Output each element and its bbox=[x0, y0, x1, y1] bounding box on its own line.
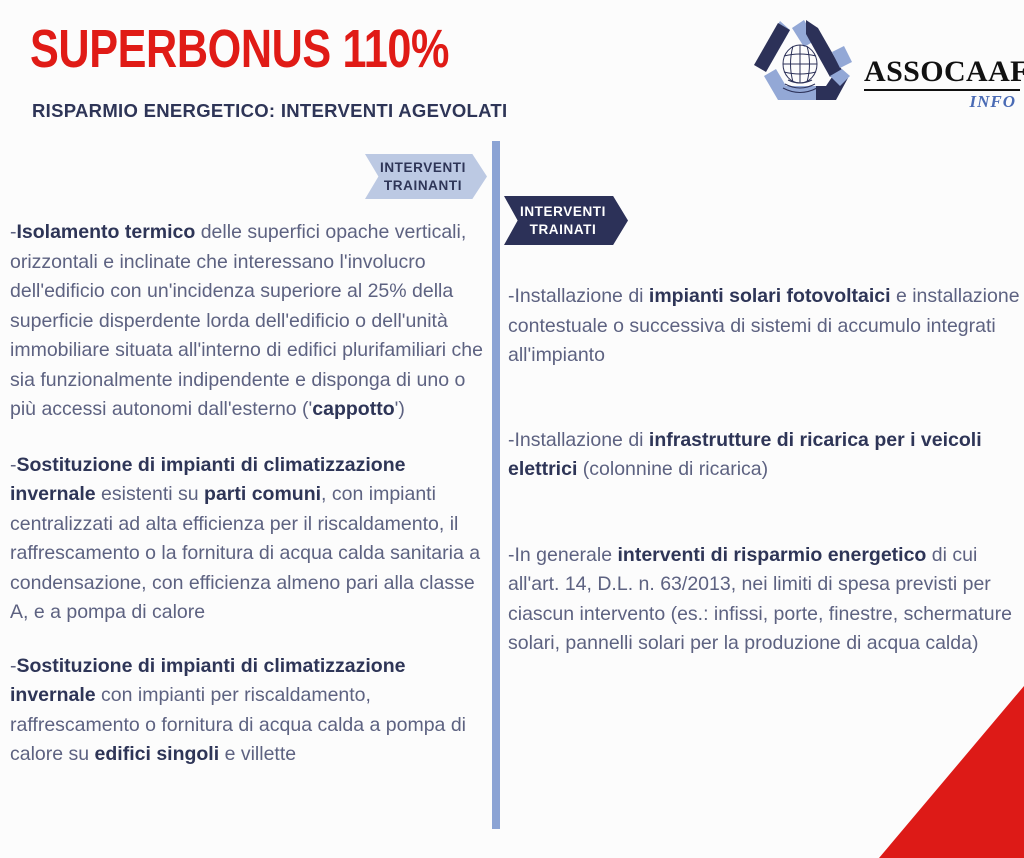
recycle-triangle-icon bbox=[752, 16, 862, 116]
banner-trainati-line2: TRAINATI bbox=[530, 221, 597, 239]
banner-interventi-trainati: INTERVENTI TRAINATI bbox=[504, 196, 628, 245]
column-divider bbox=[492, 141, 500, 829]
logo-rule bbox=[864, 89, 1020, 91]
banner-trainanti-line2: TRAINANTI bbox=[384, 177, 462, 195]
slide-canvas: SUPERBONUS 110% RISPARMIO ENERGETICO: IN… bbox=[0, 0, 1024, 858]
paragraph-infrastrutture-ricarica: -Installazione di infrastrutture di rica… bbox=[508, 426, 1020, 485]
paragraph-sostituzione-parti-comuni: -Sostituzione di impianti di climatizzaz… bbox=[10, 451, 492, 628]
right-column: -Installazione di impianti solari fotovo… bbox=[508, 282, 1020, 659]
page-subtitle: RISPARMIO ENERGETICO: INTERVENTI AGEVOLA… bbox=[32, 100, 507, 122]
banner-trainanti-line1: INTERVENTI bbox=[380, 159, 466, 177]
page-title: SUPERBONUS 110% bbox=[30, 20, 449, 78]
logo-name: ASSOCAAF bbox=[864, 56, 1020, 88]
left-column: -Isolamento termico delle superfici opac… bbox=[10, 218, 492, 794]
banner-trainati-line1: INTERVENTI bbox=[520, 203, 606, 221]
paragraph-sostituzione-edifici-singoli: -Sostituzione di impianti di climatizzaz… bbox=[10, 652, 492, 770]
logo-subtitle: INFO bbox=[864, 92, 1020, 112]
red-corner-decoration bbox=[879, 686, 1024, 858]
paragraph-risparmio-energetico-generale: -In generale interventi di risparmio ene… bbox=[508, 541, 1020, 659]
assocaaf-logo: ASSOCAAF INFO bbox=[752, 16, 1020, 120]
logo-wordmark: ASSOCAAF INFO bbox=[864, 56, 1020, 118]
paragraph-impianti-fotovoltaici: -Installazione di impianti solari fotovo… bbox=[508, 282, 1020, 371]
banner-interventi-trainanti: INTERVENTI TRAINANTI bbox=[365, 154, 487, 199]
paragraph-isolamento-termico: -Isolamento termico delle superfici opac… bbox=[10, 218, 492, 425]
